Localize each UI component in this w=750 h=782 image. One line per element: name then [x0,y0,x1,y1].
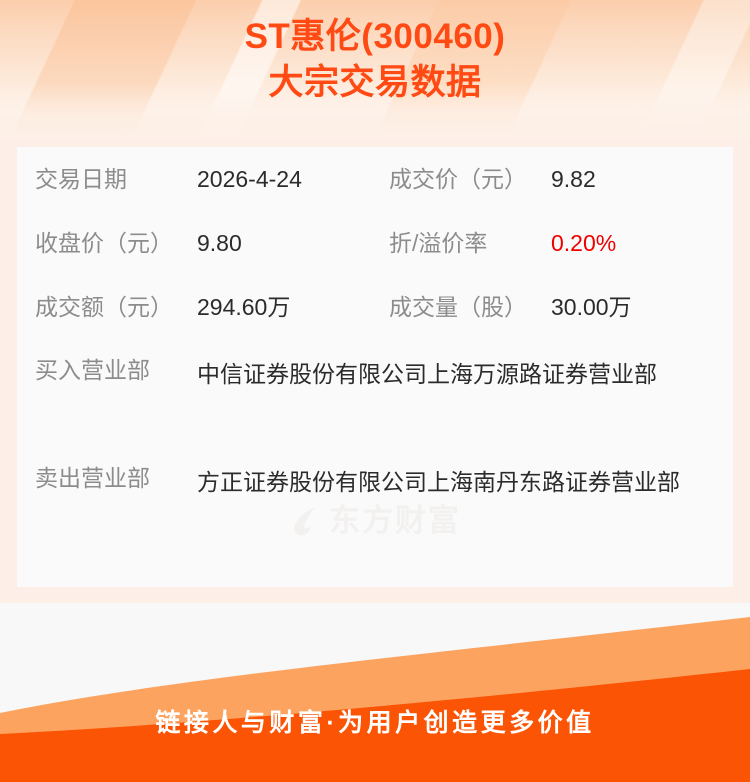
row-value-buyer-branch: 中信证券股份有限公司上海万源路证券营业部 [197,353,717,395]
footer-banner: 链接人与财富·为用户创造更多价值 [0,603,750,782]
table-row: 买入营业部 中信证券股份有限公司上海万源路证券营业部 [17,339,733,447]
table-row: 成交额（元） 294.60万 成交量（股） 30.00万 [17,275,733,339]
row-value-close-price: 9.80 [197,226,389,260]
row-value-premium-rate: 0.20% [551,226,616,260]
footer-wave-graphic [0,603,750,782]
row-value-volume: 30.00万 [551,290,632,324]
data-rows: 交易日期 2026-4-24 成交价（元） 9.82 收盘价（元） 9.80 折… [17,147,733,555]
page-root: ST惠伦(300460) 大宗交易数据 东方财富 交易日期 2026-4-24 … [0,0,750,782]
row-label-premium-rate: 折/溢价率 [389,226,551,260]
trade-data-card: 东方财富 交易日期 2026-4-24 成交价（元） 9.82 收盘价（元） 9… [17,147,733,587]
title-line-subtitle: 大宗交易数据 [0,60,750,106]
row-label-volume: 成交量（股） [389,290,551,324]
row-value-turnover: 294.60万 [197,290,389,324]
row-label-buyer-branch: 买入营业部 [35,353,197,387]
row-label-deal-price: 成交价（元） [389,162,551,196]
table-row: 卖出营业部 方正证券股份有限公司上海南丹东路证券营业部 [17,447,733,555]
row-value-seller-branch: 方正证券股份有限公司上海南丹东路证券营业部 [197,461,717,503]
row-label-trade-date: 交易日期 [35,162,197,196]
row-label-close-price: 收盘价（元） [35,226,197,260]
table-row: 收盘价（元） 9.80 折/溢价率 0.20% [17,211,733,275]
table-row: 交易日期 2026-4-24 成交价（元） 9.82 [17,147,733,211]
row-label-seller-branch: 卖出营业部 [35,461,197,495]
row-value-deal-price: 9.82 [551,162,596,196]
row-label-turnover: 成交额（元） [35,290,197,324]
title-line-stock-name: ST惠伦(300460) [0,14,750,60]
page-title: ST惠伦(300460) 大宗交易数据 [0,14,750,106]
row-value-trade-date: 2026-4-24 [197,162,389,196]
footer-slogan: 链接人与财富·为用户创造更多价值 [0,706,750,740]
